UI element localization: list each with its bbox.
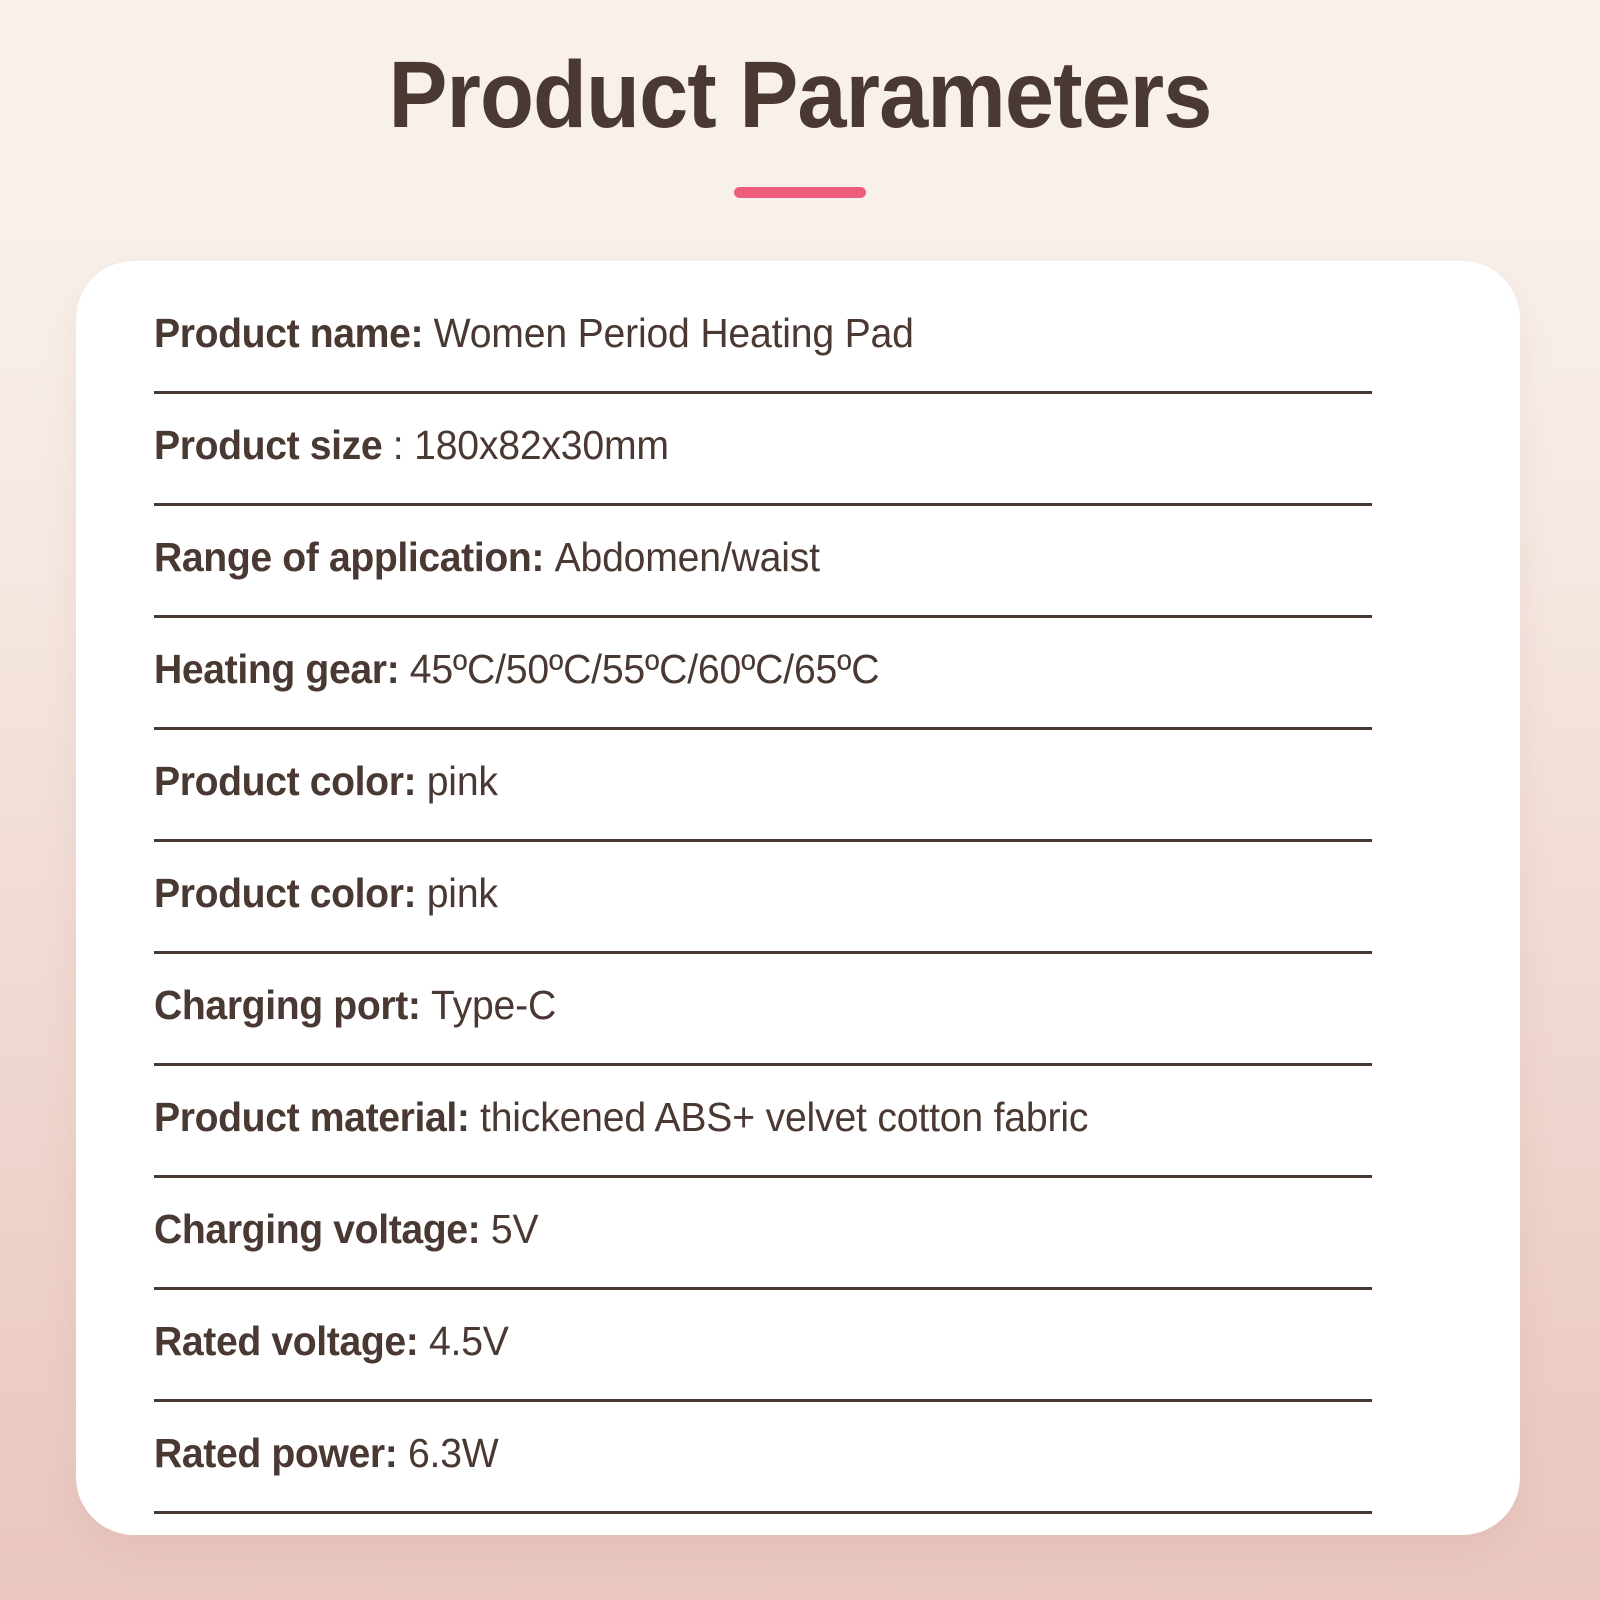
spec-label: Product name: xyxy=(154,310,423,356)
table-row: Heating gear:45ºC/50ºC/55ºC/60ºC/65ºC xyxy=(154,618,1372,730)
spec-label: Product color: xyxy=(154,758,416,804)
spec-value: Type-C xyxy=(431,982,556,1028)
spec-value: 5V xyxy=(491,1206,539,1252)
table-row: Product color:pink xyxy=(154,730,1372,842)
spec-value: 6.3W xyxy=(408,1430,499,1476)
page-title: Product Parameters xyxy=(56,0,1544,146)
spec-line: Product material:thickened ABS+ velvet c… xyxy=(154,1097,1088,1138)
product-parameters-page: Product Parameters Product name:Women Pe… xyxy=(0,0,1600,1600)
spec-line: Rated power:6.3W xyxy=(154,1433,499,1474)
spec-label: Rated voltage: xyxy=(154,1318,418,1364)
spec-label: Product size xyxy=(154,422,382,468)
specification-table: Product name:Women Period Heating PadPro… xyxy=(154,282,1372,1514)
spec-label: Product color: xyxy=(154,870,416,916)
table-row: Rated voltage:4.5V xyxy=(154,1290,1372,1402)
spec-value: pink xyxy=(427,870,498,916)
spec-line: Charging voltage:5V xyxy=(154,1209,538,1250)
spec-label: Product material: xyxy=(154,1094,470,1140)
spec-value: thickened ABS+ velvet cotton fabric xyxy=(480,1094,1088,1140)
table-row: Product material:thickened ABS+ velvet c… xyxy=(154,1066,1372,1178)
table-row: Charging voltage:5V xyxy=(154,1178,1372,1290)
spec-line: Heating gear:45ºC/50ºC/55ºC/60ºC/65ºC xyxy=(154,649,879,690)
table-row: Rated power:6.3W xyxy=(154,1402,1372,1514)
spec-value: 45ºC/50ºC/55ºC/60ºC/65ºC xyxy=(410,646,880,692)
spec-value: 4.5V xyxy=(429,1318,509,1364)
title-accent-underline xyxy=(734,187,866,198)
spec-line: Rated voltage:4.5V xyxy=(154,1321,509,1362)
spec-label: Range of application: xyxy=(154,534,544,580)
spec-label: Rated power: xyxy=(154,1430,397,1476)
spec-label: Charging voltage: xyxy=(154,1206,480,1252)
table-row: Range of application:Abdomen/waist xyxy=(154,506,1372,618)
table-row: Product size: 180x82x30mm xyxy=(154,394,1372,506)
table-row: Charging port:Type-C xyxy=(154,954,1372,1066)
spec-line: Product color:pink xyxy=(154,761,498,802)
spec-line: Product name:Women Period Heating Pad xyxy=(154,313,914,354)
spec-label: Heating gear: xyxy=(154,646,399,692)
table-row: Product name:Women Period Heating Pad xyxy=(154,282,1372,394)
spec-line: Charging port:Type-C xyxy=(154,985,556,1026)
spec-value: Abdomen/waist xyxy=(555,534,820,580)
spec-value: : 180x82x30mm xyxy=(393,422,669,468)
page-header: Product Parameters xyxy=(0,0,1600,198)
spec-value: Women Period Heating Pad xyxy=(434,310,914,356)
spec-value: pink xyxy=(427,758,498,804)
spec-line: Range of application:Abdomen/waist xyxy=(154,537,820,578)
spec-line: Product color:pink xyxy=(154,873,498,914)
table-row: Product color:pink xyxy=(154,842,1372,954)
specification-card: Product name:Women Period Heating PadPro… xyxy=(76,261,1520,1535)
spec-label: Charging port: xyxy=(154,982,421,1028)
spec-line: Product size: 180x82x30mm xyxy=(154,425,669,466)
